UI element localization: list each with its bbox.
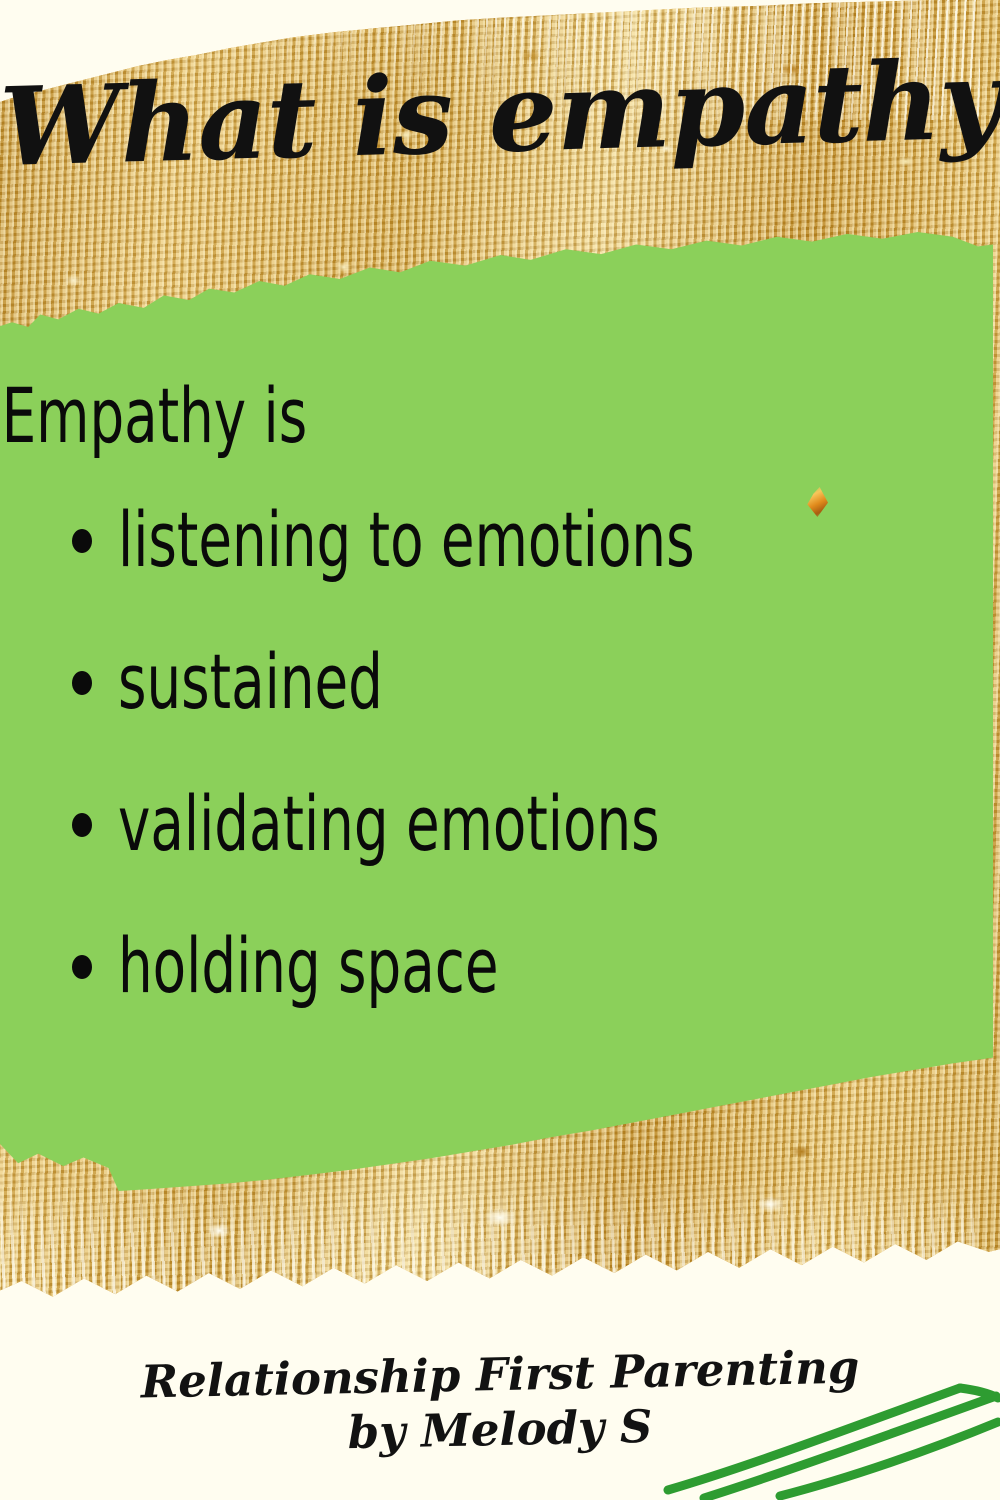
list-item: validating emotions <box>0 786 1000 862</box>
empathy-bullet-list: listening to emotions sustained validati… <box>0 502 1000 1004</box>
list-item: listening to emotions <box>0 502 1000 578</box>
list-item: sustained <box>0 644 1000 720</box>
list-item-label: holding space <box>118 928 499 1004</box>
bullet-dot-icon <box>72 813 92 837</box>
bullet-dot-icon <box>72 529 92 553</box>
page-title: What is empathy? <box>0 44 1000 185</box>
gold-brush-bottom-feather-icon <box>0 1175 980 1300</box>
list-item: holding space <box>0 928 1000 1004</box>
footer-signature: Relationship First Parenting by Melody S <box>0 1348 1000 1456</box>
bullet-dot-icon <box>72 671 92 695</box>
list-item-label: sustained <box>118 644 383 720</box>
list-item-label: validating emotions <box>118 786 660 862</box>
content-block: Empathy is listening to emotions sustain… <box>0 378 1000 1070</box>
list-item-label: listening to emotions <box>118 502 695 578</box>
bullet-dot-icon <box>72 955 92 979</box>
lead-text: Empathy is <box>0 378 800 454</box>
empathy-poster: What is empathy? Empathy is listening to… <box>0 0 1000 1500</box>
